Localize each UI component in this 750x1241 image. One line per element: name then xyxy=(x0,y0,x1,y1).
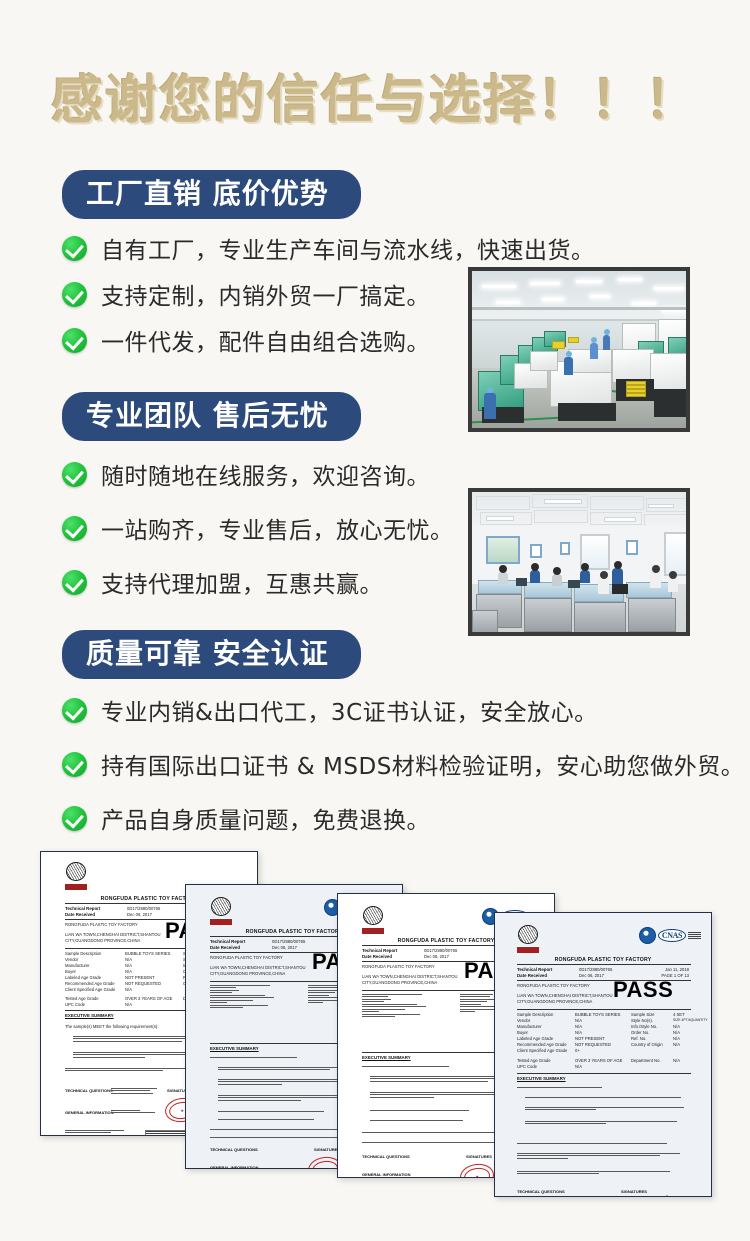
field-label: Recommended Age Grade xyxy=(65,981,115,986)
field-value: N/A xyxy=(125,963,132,968)
bullet-text: 一件代发，配件自由组合选购。 xyxy=(101,323,430,357)
field-label: Vendor xyxy=(65,957,78,962)
bullet-text: 专业内销&出口代工，3C证书认证，安全放心。 xyxy=(101,693,598,727)
summary-heading: EXECUTIVE SUMMARY xyxy=(362,1055,411,1060)
field-label: Labeled Age Grade xyxy=(65,975,101,980)
field-value: N/A xyxy=(575,1030,582,1035)
verdict-pass: PASS xyxy=(613,977,673,1003)
bullet-text: 产品自身质量问题，免费退换。 xyxy=(101,801,430,835)
technical-questions-label: TECHNICAL QUESTIONS xyxy=(517,1189,565,1194)
check-circle-icon xyxy=(62,328,87,353)
lab-logo-icon xyxy=(362,906,384,932)
section-pro-team: 专业团队 售后无忧 随时随地在线服务，欢迎咨询。 一站购齐，专业售后，放心无忧。… xyxy=(62,392,454,611)
report-value: 0D17/2880/00765 xyxy=(424,948,457,953)
bullet-text: 一站购齐，专业售后，放心无忧。 xyxy=(101,511,454,545)
check-circle-icon xyxy=(62,698,87,723)
bullet-text: 自有工厂，专业生产车间与流水线，快速出货。 xyxy=(101,231,595,265)
summary-heading: EXECUTIVE SUMMARY xyxy=(517,1076,566,1081)
date-value: Dec 06, 2017 xyxy=(272,945,297,950)
promo-page: 感谢您的信任与选择！！！ 工厂直销 底价优势 自有工厂，专业生产车间与流水线，快… xyxy=(0,0,750,1241)
summary-heading: EXECUTIVE SUMMARY xyxy=(210,1046,259,1051)
field-value: N/A xyxy=(673,1024,680,1029)
cnas-accreditation-icon: CNAS xyxy=(639,927,701,944)
check-circle-icon xyxy=(62,806,87,831)
section-heading-factory-direct: 工厂直销 底价优势 xyxy=(62,170,361,219)
field-label: Sample Size xyxy=(631,1012,655,1017)
report-label: Technical Report xyxy=(517,967,552,972)
section-quality-cert: 质量可靠 安全认证 专业内销&出口代工，3C证书认证，安全放心。 持有国际出口证… xyxy=(62,630,744,847)
bullet-list-quality-cert: 专业内销&出口代工，3C证书认证，安全放心。 持有国际出口证书 & MSDS材料… xyxy=(62,693,744,835)
field-label: Manufacturer xyxy=(65,963,90,968)
list-item: 专业内销&出口代工，3C证书认证，安全放心。 xyxy=(62,693,744,727)
report-value: 0D17/2880/00765 xyxy=(579,967,612,972)
field-value: 4 SET xyxy=(673,1012,685,1017)
section-heading-pro-team: 专业团队 售后无忧 xyxy=(62,392,361,441)
issue-date: Jan 11, 2018 xyxy=(665,967,689,972)
list-item: 持有国际出口证书 & MSDS材料检验证明，安心助您做外贸。 xyxy=(62,747,744,781)
field-label: Sample Description xyxy=(517,1012,553,1017)
technical-questions-label: TECHNICAL QUESTIONS xyxy=(65,1088,113,1093)
field-label: UPC Code xyxy=(65,1002,85,1007)
photo-office-team xyxy=(468,488,690,636)
field-label: Sample Description xyxy=(65,951,101,956)
check-circle-icon xyxy=(62,282,87,307)
field-value: N/A xyxy=(673,1030,680,1035)
field-label: Country of Origin xyxy=(631,1042,663,1047)
field-label: Tested Age Grade xyxy=(517,1058,551,1063)
field-label: Buyer xyxy=(517,1030,528,1035)
date-value: Dec 06, 2017 xyxy=(579,973,604,978)
bullet-text: 支持定制，内销外贸一厂搞定。 xyxy=(101,277,430,311)
field-label: Tested Age Grade xyxy=(65,996,99,1001)
date-label: Date Received xyxy=(517,973,547,978)
field-value: OVER 3 YEARS OF AGE xyxy=(125,996,172,1001)
field-value: OVER 3 YEARS OF AGE xyxy=(575,1058,622,1063)
field-value: SIZE 4PT/4QUANTITY xyxy=(673,1018,708,1022)
field-value: NOT REQUESTED xyxy=(575,1042,611,1047)
certificate-factory-title: RONGFUDA PLASTIC TOY FACTORY xyxy=(495,957,711,963)
field-value: N/A xyxy=(125,969,132,974)
field-label: Ref. No. xyxy=(631,1036,646,1041)
field-value: N/A xyxy=(125,1002,132,1007)
field-label: Buyer xyxy=(65,969,76,974)
handwritten-signature: ✍ xyxy=(658,1194,674,1197)
field-value: NOT REQUESTED xyxy=(125,981,161,986)
report-label: Technical Report xyxy=(362,948,397,953)
date-value: Dec 06, 2017 xyxy=(424,954,449,959)
field-value: N/A xyxy=(673,1042,680,1047)
field-label: Order No. xyxy=(631,1030,649,1035)
lab-logo-icon xyxy=(65,862,87,888)
report-label: Technical Report xyxy=(210,939,245,944)
field-label: Labeled Age Grade xyxy=(517,1036,553,1041)
check-circle-icon xyxy=(62,462,87,487)
section-heading-quality-cert: 质量可靠 安全认证 xyxy=(62,630,361,679)
field-value: N/A xyxy=(575,1018,582,1023)
report-value: 0D17/2880/00765 xyxy=(127,906,160,911)
field-value: 0+ xyxy=(575,1048,580,1053)
field-label: Vendor xyxy=(517,1018,530,1023)
field-label: Client Specified Age Grade xyxy=(517,1048,567,1053)
field-value: N/A xyxy=(673,1036,680,1041)
field-value: N/A xyxy=(575,1064,582,1069)
page-title: 感谢您的信任与选择！！！ xyxy=(0,58,750,133)
company-seal-stamp: ★ xyxy=(458,1162,495,1178)
field-label: Recommended Age Grade xyxy=(517,1042,567,1047)
general-information-label: GENERAL INFORMATION xyxy=(65,1110,114,1115)
check-circle-icon xyxy=(62,236,87,261)
list-item: 产品自身质量问题，免费退换。 xyxy=(62,801,744,835)
address-line-2: LIAN WA TOWN,CHENGHAI DISTRICT,SHANTOU xyxy=(65,932,160,937)
field-value: BUBBLE TOYS SERIES xyxy=(575,1012,620,1017)
signatures-label: SIGNATURES xyxy=(621,1189,647,1194)
date-label: Date Received xyxy=(65,912,95,917)
report-label: Technical Report xyxy=(65,906,100,911)
list-item: 自有工厂，专业生产车间与流水线，快速出货。 xyxy=(62,231,595,265)
check-circle-icon xyxy=(62,752,87,777)
bullet-text: 支持代理加盟，互惠共赢。 xyxy=(101,565,383,599)
summary-heading: EXECUTIVE SUMMARY xyxy=(65,1013,114,1018)
report-value: 0D17/2880/00765 xyxy=(272,939,305,944)
list-item: 随时随地在线服务，欢迎咨询。 xyxy=(62,457,454,491)
check-circle-icon xyxy=(62,570,87,595)
field-label: Manufacturer xyxy=(517,1024,542,1029)
list-item: 一站购齐，专业售后，放心无忧。 xyxy=(62,511,454,545)
bullet-list-pro-team: 随时随地在线服务，欢迎咨询。 一站购齐，专业售后，放心无忧。 支持代理加盟，互惠… xyxy=(62,457,454,599)
field-value: N/A xyxy=(125,957,132,962)
field-label: Info./Style No. xyxy=(631,1024,657,1029)
photo-factory-workshop xyxy=(468,267,690,432)
lab-logo-icon xyxy=(210,897,232,923)
date-label: Date Received xyxy=(210,945,240,950)
certificate-4[interactable]: CNAS RONGFUDA PLASTIC TOY FACTORY Techni… xyxy=(494,912,712,1197)
bullet-text: 随时随地在线服务，欢迎咨询。 xyxy=(101,457,430,491)
address-line-1: RONGFUDA PLASTIC TOY FACTORY xyxy=(65,922,138,927)
summary-intro: The sample(s) MEET the following require… xyxy=(65,1024,158,1029)
date-value: Dec 06, 2017 xyxy=(127,912,152,917)
field-label: Style No(s). xyxy=(631,1018,653,1023)
field-label: UPC Code xyxy=(517,1064,537,1069)
field-label: Client Specified Age Grade xyxy=(65,987,115,992)
field-value: NOT PRESENT xyxy=(125,975,155,980)
field-label: Department No. xyxy=(631,1058,661,1063)
field-value: N/A xyxy=(673,1058,680,1063)
field-value: N/A xyxy=(575,1024,582,1029)
field-value: N/A xyxy=(125,987,132,992)
address-line-3: CITY,GUANGDONG PROVINCE,CHINA xyxy=(65,938,140,943)
bullet-text: 持有国际出口证书 & MSDS材料检验证明，安心助您做外贸。 xyxy=(101,747,744,781)
field-value: BUBBLE TOYS SERIES xyxy=(125,951,170,956)
list-item: 支持代理加盟，互惠共赢。 xyxy=(62,565,454,599)
field-value: NOT PRESENT xyxy=(575,1036,605,1041)
lab-logo-icon xyxy=(517,925,539,951)
check-circle-icon xyxy=(62,516,87,541)
date-label: Date Received xyxy=(362,954,392,959)
